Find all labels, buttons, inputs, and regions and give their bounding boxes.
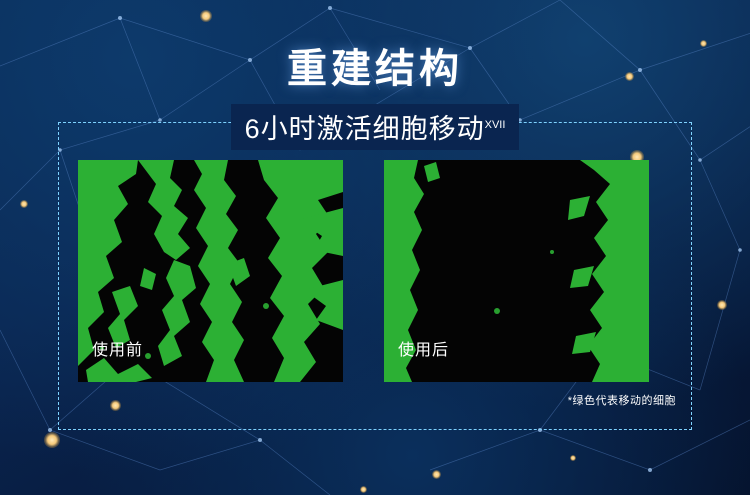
subtitle-superscript: XVII: [485, 119, 506, 131]
bokeh-dot: [360, 486, 367, 493]
bokeh-dot: [432, 470, 441, 479]
subtitle-wrap: 6小时激活细胞移动XVII: [0, 104, 750, 150]
bokeh-dot: [717, 300, 727, 310]
bokeh-dot: [200, 10, 212, 22]
bokeh-dot: [20, 200, 28, 208]
subtitle: 6小时激活细胞移动XVII: [231, 104, 520, 150]
bokeh-dot: [570, 455, 576, 461]
bokeh-dot: [44, 432, 60, 448]
footnote: *绿色代表移动的细胞: [568, 392, 676, 408]
panel-label-before: 使用前: [92, 336, 143, 360]
poster-canvas: 重建结构 6小时激活细胞移动XVII: [0, 0, 750, 495]
subtitle-text: 6小时激活细胞移动: [245, 114, 485, 144]
page-title: 重建结构: [0, 36, 750, 94]
panel-label-after: 使用后: [398, 336, 449, 360]
image-panel-before: 使用前: [78, 160, 343, 382]
image-panel-after: 使用后: [384, 160, 649, 382]
